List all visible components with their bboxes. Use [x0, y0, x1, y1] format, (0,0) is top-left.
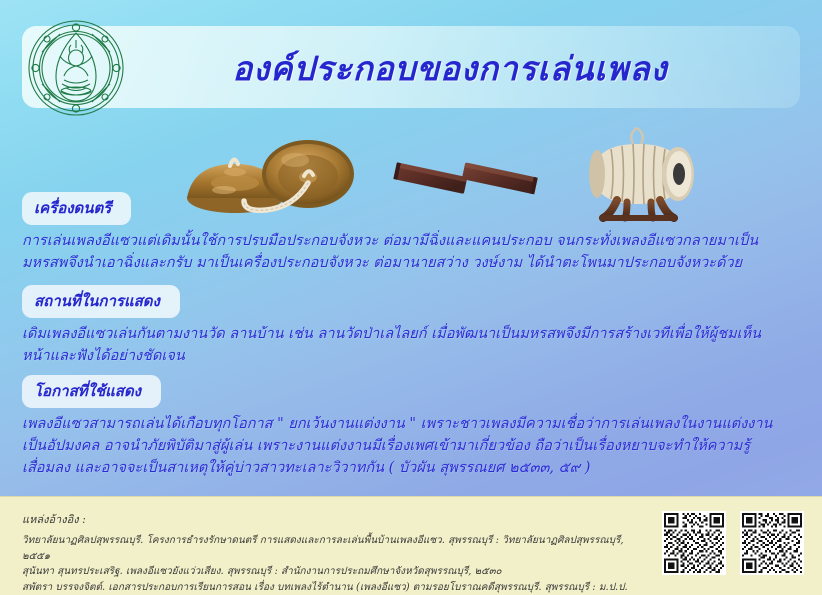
- poster-root: องค์ประกอบของการเล่นเพลง: [0, 0, 822, 595]
- qr-code-right[interactable]: [740, 511, 804, 575]
- section-performance-occasion: โอกาสที่ใช้แสดง เพลงอีแซวสามารถเล่นได้เก…: [22, 375, 812, 479]
- reference-item: สุนันทา สุนทรประเสริฐ. เพลงอีแซวยังแว่วเ…: [22, 564, 642, 580]
- page-title: องค์ประกอบของการเล่นเพลง: [150, 42, 750, 95]
- references-block: แหล่งอ้างอิง : วิทยาลัยนาฏศิลปสุพรรณบุรี…: [22, 510, 642, 595]
- footer-references-bar: แหล่งอ้างอิง : วิทยาลัยนาฏศิลปสุพรรณบุรี…: [0, 496, 822, 595]
- section-body-instruments: การเล่นเพลงอีแซวแต่เดิมนั้นใช้การปรบมือป…: [22, 230, 812, 274]
- section-body-performance-occasion: เพลงอีแซวสามารถเล่นได้เกือบทุกโอกาส " ยก…: [22, 413, 812, 479]
- reference-item: สพัตรา บรรจงจิตต์. เอกสารประกอบการเรียนก…: [22, 580, 642, 595]
- section-label-performance-venue: สถานที่ในการแสดง: [22, 285, 180, 318]
- instrument-photo-row: [0, 118, 822, 200]
- section-label-performance-occasion: โอกาสที่ใช้แสดง: [22, 375, 161, 408]
- section-label-instruments: เครื่องดนตรี: [22, 192, 131, 225]
- qr-code-group: [662, 511, 804, 575]
- section-body-performance-venue: เดิมเพลงอีแซวเล่นกันตามงานวัด ลานบ้าน เช…: [22, 323, 812, 367]
- section-instruments: เครื่องดนตรี การเล่นเพลงอีแซวแต่เดิมนั้น…: [22, 192, 812, 274]
- reference-item: วิทยาลัยนาฏศิลปสุพรรณบุรี. โครงการธำรงรั…: [22, 533, 642, 564]
- deva-emblem-logo: [26, 18, 126, 118]
- section-performance-venue: สถานที่ในการแสดง เดิมเพลงอีแซวเล่นกันตาม…: [22, 285, 812, 367]
- qr-code-left[interactable]: [662, 511, 726, 575]
- references-heading: แหล่งอ้างอิง :: [22, 510, 642, 528]
